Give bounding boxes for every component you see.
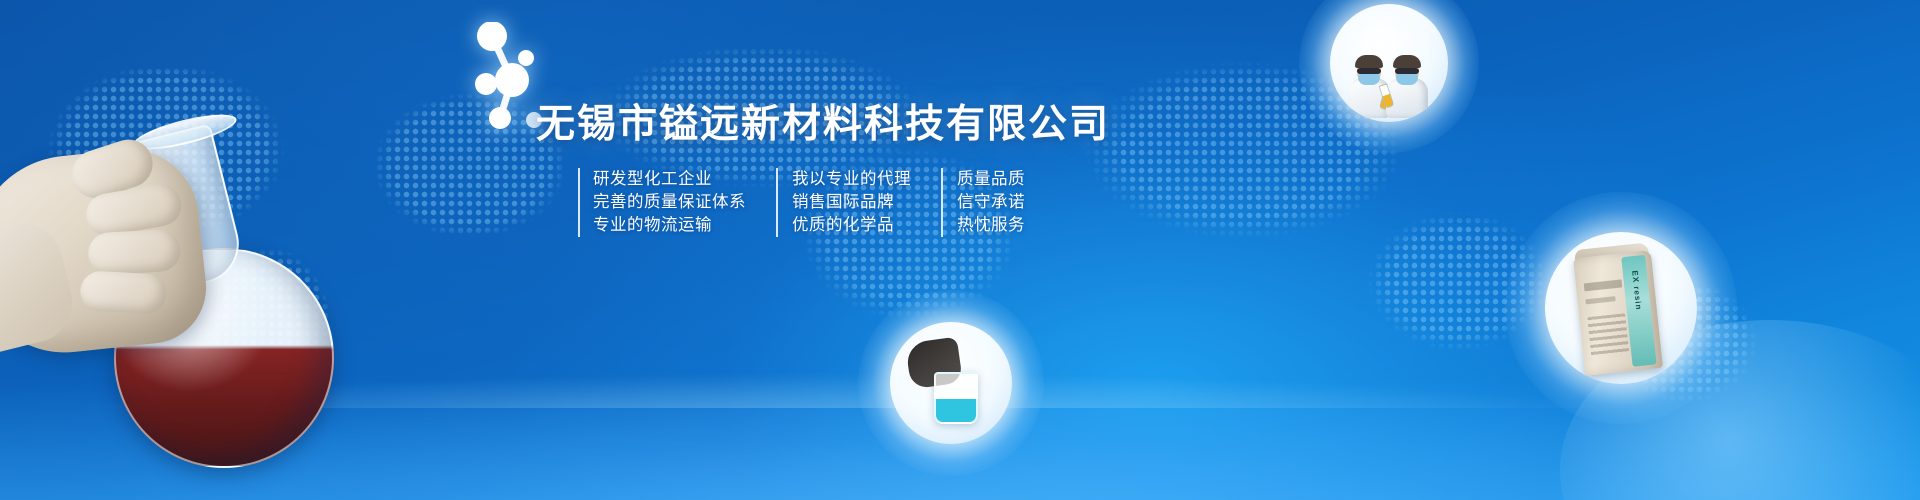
resin-sack-photo: EX resin: [1545, 232, 1697, 384]
gloved-hand-beaker-photo: [890, 322, 1012, 444]
lab-scientists-photo: [1330, 4, 1448, 122]
chemical-sack: EX resin: [1573, 250, 1663, 376]
page-title: 无锡市镒远新材料科技有限公司: [536, 93, 1110, 149]
tagline-text: 研发型化工企业: [593, 168, 746, 191]
tagline-text: 销售国际品牌: [792, 191, 911, 214]
tagline-column-3: 质量品质 信守承诺 热忱服务: [941, 168, 1055, 237]
tagline-text: 信守承诺: [957, 191, 1025, 214]
tagline-text: 专业的物流运输: [593, 214, 746, 237]
tagline-column-1: 研发型化工企业 完善的质量保证体系 专业的物流运输: [578, 168, 776, 237]
tagline-text: 完善的质量保证体系: [593, 191, 746, 214]
sack-label: EX resin: [1630, 270, 1643, 311]
gloved-hand-flask: [0, 96, 342, 500]
tagline-text: 优质的化学品: [792, 214, 911, 237]
beaker: [934, 372, 978, 424]
tagline-column-2: 我以专业的代理 销售国际品牌 优质的化学品: [776, 168, 941, 237]
tagline-text: 质量品质: [957, 168, 1025, 191]
tagline-text: 热忱服务: [957, 214, 1025, 237]
tagline-group: 研发型化工企业 完善的质量保证体系 专业的物流运输 我以专业的代理 销售国际品牌…: [578, 168, 1055, 237]
company-hero-banner: 无锡市镒远新材料科技有限公司 研发型化工企业 完善的质量保证体系 专业的物流运输…: [0, 0, 1920, 500]
tagline-text: 我以专业的代理: [792, 168, 911, 191]
